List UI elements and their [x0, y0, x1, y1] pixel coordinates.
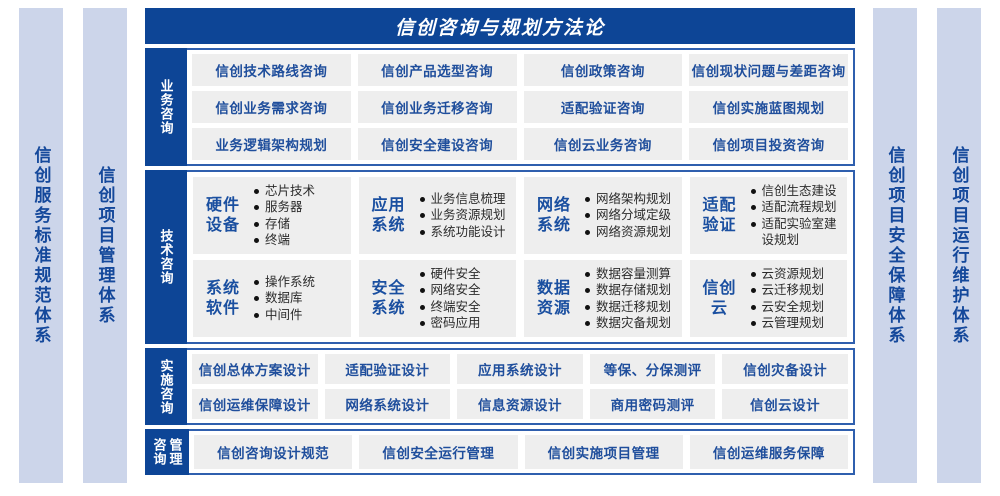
card-title: 数据资源	[530, 279, 578, 318]
card-item-list: 云资源规划 云迁移规划 云安全规划 云管理规划	[748, 266, 842, 331]
list-item: 业务信息梳理	[419, 191, 511, 207]
technical-cards: 硬件设备 芯片技术 服务器 存储 终端 应用系统 业务信息梳理 业务资源规划	[187, 172, 853, 342]
card-item-list: 硬件安全 网络安全 终端安全 密码应用	[417, 266, 511, 331]
table-row: 信创业务需求咨询 信创业务迁移咨询 适配验证咨询 信创实施蓝图规划	[192, 91, 848, 123]
card-application-system[interactable]: 应用系统 业务信息梳理 业务资源规划 系统功能设计	[359, 177, 517, 254]
list-item: 云迁移规划	[750, 282, 842, 298]
list-item: 系统功能设计	[419, 224, 511, 240]
card-item-list: 操作系统 数据库 中间件	[251, 274, 345, 323]
table-row: 信创总体方案设计 适配验证设计 应用系统设计 等保、分保测评 信创灾备设计	[192, 354, 848, 384]
center-stack: 信创咨询与规划方法论 业务咨询 信创技术路线咨询 信创产品选型咨询 信创政策咨询…	[145, 8, 855, 483]
list-item: 数据库	[253, 290, 345, 306]
card-item-list: 网络架构规划 网络分域定级 网络资源规划	[582, 191, 676, 240]
list-item[interactable]: 信创总体方案设计	[192, 354, 318, 384]
row-label-technical-text: 技术咨询	[160, 229, 173, 285]
row-label-consulting-text: 咨询	[153, 438, 166, 466]
list-item[interactable]: 业务逻辑架构规划	[192, 128, 351, 160]
row-label-management-text: 管理	[169, 438, 182, 466]
row-label-business-text: 业务咨询	[160, 79, 173, 135]
list-item[interactable]: 信创安全建设咨询	[358, 128, 517, 160]
list-item[interactable]: 信创实施蓝图规划	[689, 91, 848, 123]
list-item[interactable]: 适配验证咨询	[524, 91, 683, 123]
list-item[interactable]: 信创现状问题与差距咨询	[689, 54, 848, 86]
pillar-service-standard: 信创服务标准规范体系	[19, 8, 63, 483]
card-title: 应用系统	[365, 196, 413, 235]
list-item[interactable]: 网络系统设计	[325, 389, 451, 419]
list-item: 操作系统	[253, 274, 345, 290]
card-title: 信创云	[696, 279, 744, 318]
card-item-list: 信创生态建设 适配流程规划 适配实验室建设规划	[748, 183, 842, 248]
list-item: 密码应用	[419, 315, 511, 331]
list-item[interactable]: 信息资源设计	[457, 389, 583, 419]
list-item[interactable]: 信创安全运行管理	[359, 435, 517, 469]
list-item: 网络架构规划	[584, 191, 676, 207]
pillar-project-security: 信创项目安全保障体系	[873, 8, 917, 483]
list-item: 数据容量测算	[584, 266, 676, 282]
table-row: 硬件设备 芯片技术 服务器 存储 终端 应用系统 业务信息梳理 业务资源规划	[193, 177, 847, 254]
business-cells: 信创技术路线咨询 信创产品选型咨询 信创政策咨询 信创现状问题与差距咨询 信创业…	[187, 50, 853, 164]
diagram-canvas: 信创服务标准规范体系 信创项目管理体系 信创咨询与规划方法论 业务咨询 信创技术…	[0, 0, 1000, 496]
row-label-technical: 技术咨询	[145, 170, 187, 344]
table-row: 信创咨询设计规范 信创安全运行管理 信创实施项目管理 信创运维服务保障	[194, 435, 848, 469]
card-xinchuang-cloud[interactable]: 信创云 云资源规划 云迁移规划 云安全规划 云管理规划	[690, 260, 848, 337]
card-title: 安全系统	[365, 279, 413, 318]
pillar-project-security-label: 信创项目安全保障体系	[887, 146, 904, 346]
list-item[interactable]: 信创项目投资咨询	[689, 128, 848, 160]
list-item: 适配流程规划	[750, 199, 842, 215]
table-row: 业务逻辑架构规划 信创安全建设咨询 信创云业务咨询 信创项目投资咨询	[192, 128, 848, 160]
list-item: 芯片技术	[253, 183, 345, 199]
list-item[interactable]: 应用系统设计	[457, 354, 583, 384]
pillar-project-management-label: 信创项目管理体系	[97, 166, 114, 326]
row-label-implementation: 实施咨询	[145, 348, 187, 425]
list-item[interactable]: 信创技术路线咨询	[192, 54, 351, 86]
list-item[interactable]: 信创云设计	[722, 389, 848, 419]
management-cells: 信创咨询设计规范 信创安全运行管理 信创实施项目管理 信创运维服务保障	[189, 431, 853, 473]
list-item[interactable]: 信创实施项目管理	[525, 435, 683, 469]
table-row: 信创技术路线咨询 信创产品选型咨询 信创政策咨询 信创现状问题与差距咨询	[192, 54, 848, 86]
list-item: 硬件安全	[419, 266, 511, 282]
implementation-cells: 信创总体方案设计 适配验证设计 应用系统设计 等保、分保测评 信创灾备设计 信创…	[187, 350, 853, 423]
list-item: 网络分域定级	[584, 207, 676, 223]
card-title: 网络系统	[530, 196, 578, 235]
list-item: 数据灾备规划	[584, 315, 676, 331]
list-item: 中间件	[253, 307, 345, 323]
row-label-business: 业务咨询	[145, 48, 187, 166]
list-item: 数据存储规划	[584, 282, 676, 298]
list-item: 适配实验室建设规划	[750, 216, 842, 249]
card-item-list: 数据容量测算 数据存储规划 数据迁移规划 数据灾备规划	[582, 266, 676, 331]
list-item: 网络资源规划	[584, 224, 676, 240]
table-row: 信创运维保障设计 网络系统设计 信息资源设计 商用密码测评 信创云设计	[192, 389, 848, 419]
section-implementation-consulting: 实施咨询 信创总体方案设计 适配验证设计 应用系统设计 等保、分保测评 信创灾备…	[145, 348, 855, 425]
list-item: 云资源规划	[750, 266, 842, 282]
pillar-service-standard-label: 信创服务标准规范体系	[33, 146, 50, 346]
list-item[interactable]: 信创云业务咨询	[524, 128, 683, 160]
list-item: 业务资源规划	[419, 207, 511, 223]
list-item[interactable]: 信创咨询设计规范	[194, 435, 352, 469]
section-consulting-management: 咨询 管理 信创咨询设计规范 信创安全运行管理 信创实施项目管理 信创运维服务保…	[145, 429, 855, 475]
card-network-system[interactable]: 网络系统 网络架构规划 网络分域定级 网络资源规划	[524, 177, 682, 254]
card-adaptation-verification[interactable]: 适配验证 信创生态建设 适配流程规划 适配实验室建设规划	[690, 177, 848, 254]
row-label-implementation-text: 实施咨询	[160, 359, 173, 415]
card-hardware-equipment[interactable]: 硬件设备 芯片技术 服务器 存储 终端	[193, 177, 351, 254]
list-item: 终端	[253, 232, 345, 248]
list-item[interactable]: 信创灾备设计	[722, 354, 848, 384]
list-item: 云管理规划	[750, 315, 842, 331]
list-item: 服务器	[253, 199, 345, 215]
list-item: 数据迁移规划	[584, 299, 676, 315]
card-data-resource[interactable]: 数据资源 数据容量测算 数据存储规划 数据迁移规划 数据灾备规划	[524, 260, 682, 337]
card-item-list: 芯片技术 服务器 存储 终端	[251, 183, 345, 248]
list-item[interactable]: 信创运维服务保障	[690, 435, 848, 469]
list-item[interactable]: 信创业务需求咨询	[192, 91, 351, 123]
card-title: 适配验证	[696, 196, 744, 235]
diagram-title-bar: 信创咨询与规划方法论	[145, 8, 855, 44]
card-title: 系统软件	[199, 279, 247, 318]
list-item: 信创生态建设	[750, 183, 842, 199]
list-item: 终端安全	[419, 299, 511, 315]
pillar-project-operation-label: 信创项目运行维护体系	[951, 146, 968, 346]
pillar-project-management: 信创项目管理体系	[83, 8, 127, 483]
list-item[interactable]: 信创政策咨询	[524, 54, 683, 86]
list-item: 云安全规划	[750, 299, 842, 315]
section-business-consulting: 业务咨询 信创技术路线咨询 信创产品选型咨询 信创政策咨询 信创现状问题与差距咨…	[145, 48, 855, 166]
pillar-project-operation: 信创项目运行维护体系	[937, 8, 981, 483]
list-item[interactable]: 信创业务迁移咨询	[358, 91, 517, 123]
card-system-software[interactable]: 系统软件 操作系统 数据库 中间件	[193, 260, 351, 337]
list-item[interactable]: 信创产品选型咨询	[358, 54, 517, 86]
card-security-system[interactable]: 安全系统 硬件安全 网络安全 终端安全 密码应用	[359, 260, 517, 337]
list-item[interactable]: 信创运维保障设计	[192, 389, 318, 419]
list-item[interactable]: 商用密码测评	[590, 389, 716, 419]
row-label-consulting-management: 咨询 管理	[145, 429, 189, 475]
section-technical-consulting: 技术咨询 硬件设备 芯片技术 服务器 存储 终端 应用系统	[145, 170, 855, 344]
table-row: 系统软件 操作系统 数据库 中间件 安全系统 硬件安全 网络安全 终端安全	[193, 260, 847, 337]
card-item-list: 业务信息梳理 业务资源规划 系统功能设计	[417, 191, 511, 240]
card-title: 硬件设备	[199, 196, 247, 235]
list-item[interactable]: 等保、分保测评	[590, 354, 716, 384]
page-title: 信创咨询与规划方法论	[395, 13, 605, 40]
list-item: 网络安全	[419, 282, 511, 298]
list-item: 存储	[253, 216, 345, 232]
list-item[interactable]: 适配验证设计	[325, 354, 451, 384]
